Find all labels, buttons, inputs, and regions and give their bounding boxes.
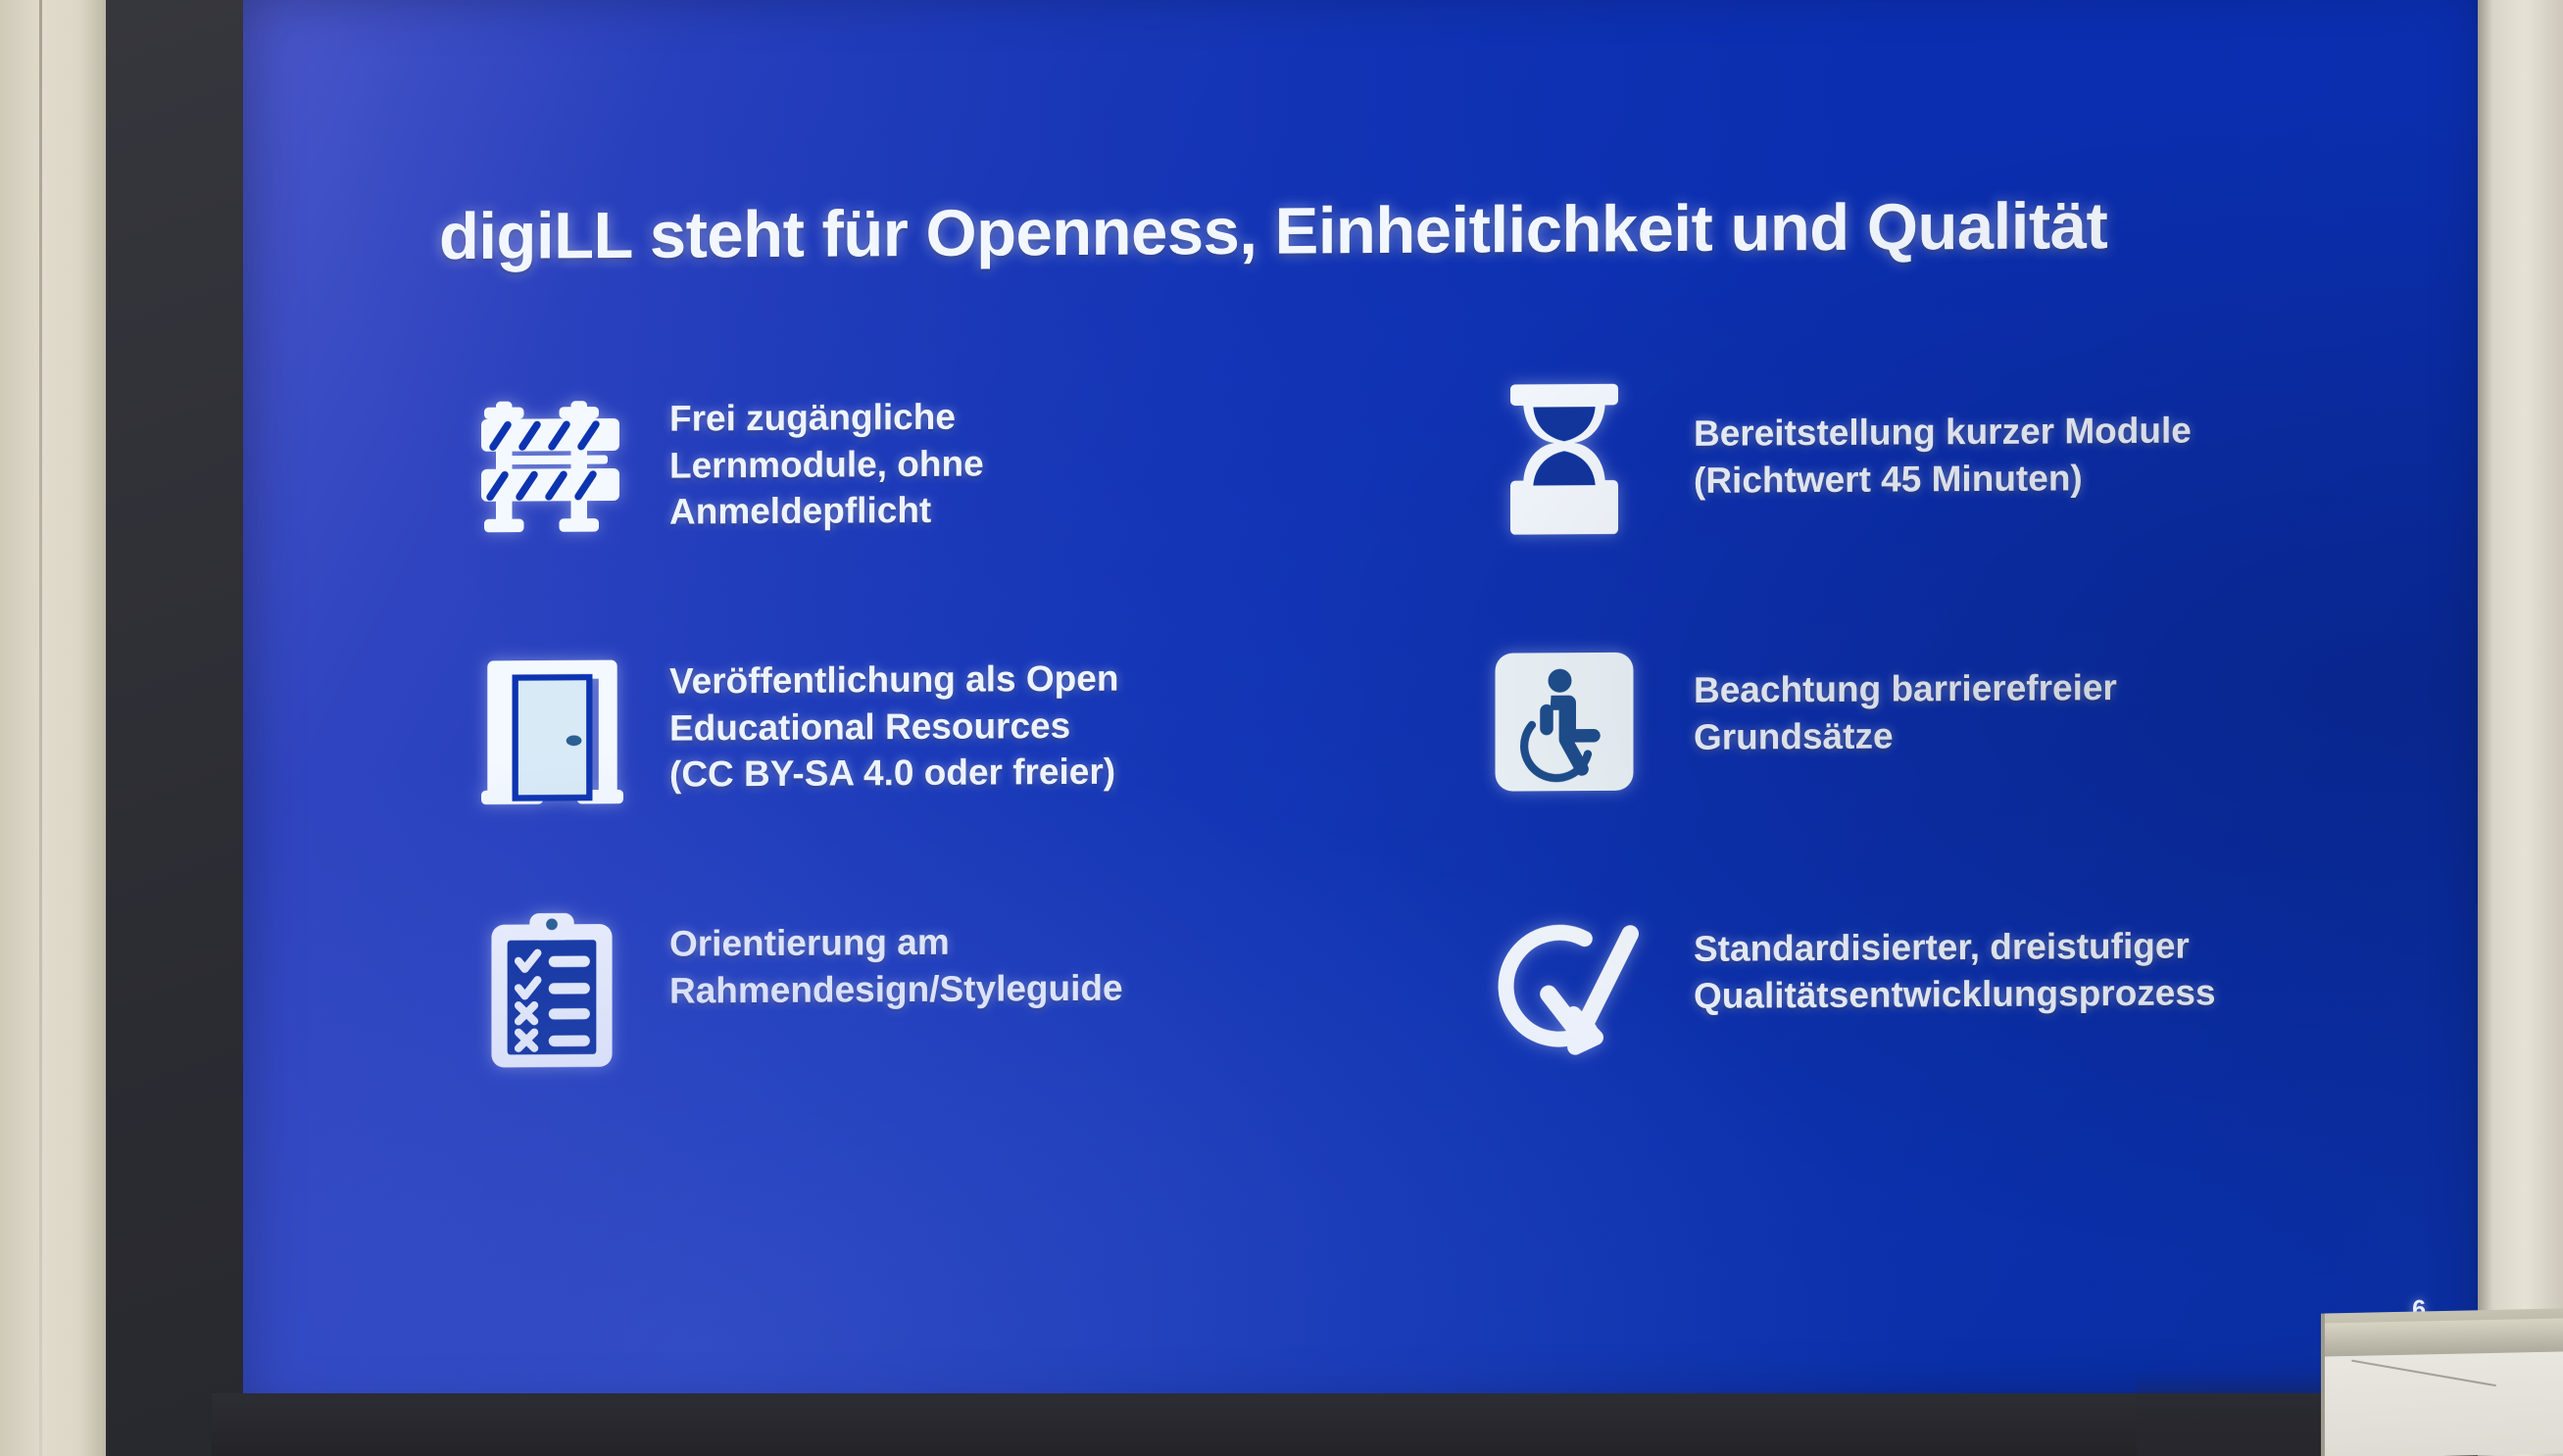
flipchart-board <box>2321 1308 2563 1456</box>
feature-item: Beachtung barrierefreier Grundsätze <box>1463 625 2443 894</box>
flipchart-rail <box>2325 1318 2563 1356</box>
feature-text-line: Anmeldepflicht <box>669 484 1375 535</box>
feature-text: Beachtung barrierefreier Grundsätze <box>1694 662 2380 760</box>
feature-text-line: Veröffentlichung als Open <box>669 654 1375 704</box>
clipboard-checklist-icon <box>468 907 635 1075</box>
wheelchair-accessibility-icon <box>1481 638 1648 805</box>
content-grid: Frei zugängliche Lernmodule, ohne Anmeld… <box>429 363 2399 375</box>
feature-text: Veröffentlichung als Open Educational Re… <box>669 654 1375 799</box>
hourglass-icon <box>1481 375 1648 543</box>
projected-slide: digiLL steht für Openness, Einheitlichke… <box>243 0 2492 1422</box>
feature-text-line: Educational Resources <box>669 701 1375 752</box>
check-cycle-icon <box>1481 900 1648 1068</box>
right-column: Bereitstellung kurzer Module (Richtwert … <box>1463 363 2443 1156</box>
feature-item: Bereitstellung kurzer Module (Richtwert … <box>1463 363 2443 631</box>
projector-screen-bezel: digiLL steht für Openness, Einheitlichke… <box>106 0 2482 1456</box>
projection-room-scene: digiLL steht für Openness, Einheitlichke… <box>0 0 2563 1456</box>
foreground-shadow <box>2137 1372 2333 1456</box>
feature-text: Orientierung am Rahmendesign/Styleguide <box>669 916 1375 1014</box>
feature-text-line: Lernmodule, ohne <box>669 438 1375 489</box>
right-wall <box>2478 0 2563 1456</box>
feature-text-line: Grundsätze <box>1694 709 2380 760</box>
feature-text-line: Orientierung am <box>669 916 1375 967</box>
feature-text-line: Beachtung barrierefreier <box>1694 662 2380 713</box>
feature-text-line: (CC BY-SA 4.0 oder freier) <box>669 747 1375 798</box>
feature-text-line: Bereitstellung kurzer Module <box>1694 406 2380 457</box>
open-door-icon <box>468 645 635 812</box>
feature-text-line: Frei zugängliche <box>669 391 1375 442</box>
feature-item: Standardisierter, dreistufiger Qualitäts… <box>1463 888 2443 1156</box>
road-barrier-icon <box>468 382 635 550</box>
feature-text: Frei zugängliche Lernmodule, ohne Anmeld… <box>669 391 1375 536</box>
feature-text: Bereitstellung kurzer Module (Richtwert … <box>1694 406 2380 504</box>
feature-text-line: (Richtwert 45 Minuten) <box>1694 453 2380 504</box>
flipchart-paper-crease <box>2351 1360 2496 1387</box>
feature-item: Frei zugängliche Lernmodule, ohne Anmeld… <box>429 369 1409 638</box>
feature-text-line: Qualitätsentwicklungsprozess <box>1694 968 2380 1019</box>
feature-item: Orientierung am Rahmendesign/Styleguide <box>429 895 1409 1163</box>
slide-title: digiLL steht für Openness, Einheitlichke… <box>439 187 2301 274</box>
wall-seam <box>39 0 42 1456</box>
left-wall <box>0 0 110 1456</box>
feature-text-line: Rahmendesign/Styleguide <box>669 963 1375 1014</box>
feature-text: Standardisierter, dreistufiger Qualitäts… <box>1694 921 2380 1019</box>
feature-text-line: Standardisierter, dreistufiger <box>1694 921 2380 972</box>
left-column: Frei zugängliche Lernmodule, ohne Anmeld… <box>429 369 1409 1163</box>
feature-item: Veröffentlichung als Open Educational Re… <box>429 632 1409 900</box>
